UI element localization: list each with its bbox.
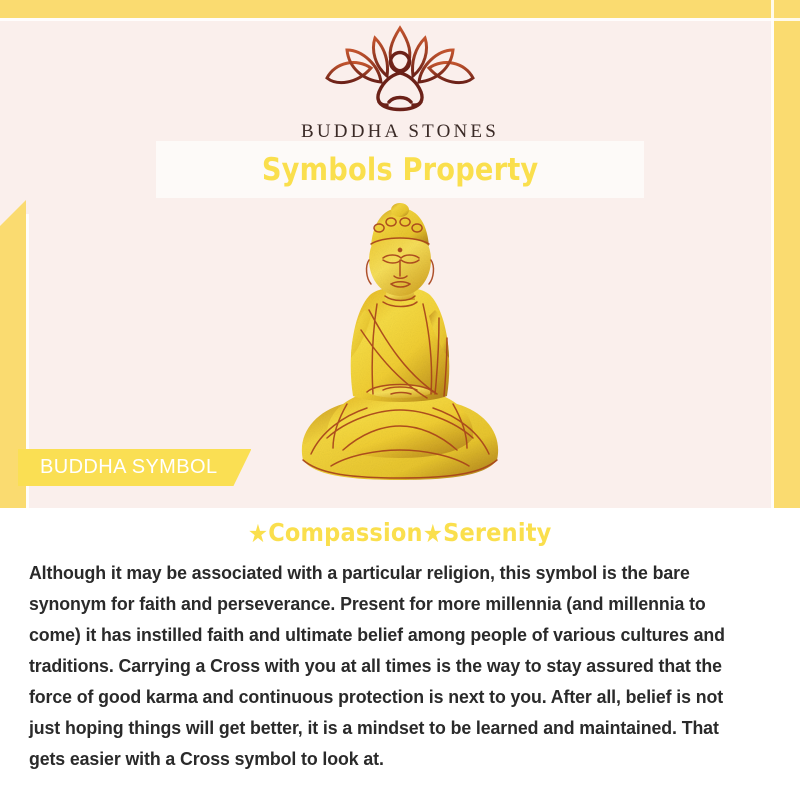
frame-strip-top [0,0,800,18]
section-body-text: Although it may be associated with a par… [0,548,772,774]
section-ribbon-label: BUDDHA SYMBOL [40,456,217,479]
title-band: Symbols Property [156,141,644,198]
subheading-serenity: Serenity [443,518,551,547]
frame-hairline-top [0,18,800,21]
seated-buddha-icon [287,198,513,488]
subheading-compassion: Compassion [269,518,423,547]
content-area: ★Compassion★Serenity Although it may be … [0,508,800,800]
star-icon-left: ★ [248,519,268,548]
lotus-meditation-icon [0,22,800,119]
brand-name: BUDDHA STONES [0,121,800,143]
brand-logo: BUDDHA STONES [0,22,800,143]
section-ribbon: BUDDHA SYMBOL [18,449,251,486]
star-icon-right: ★ [423,519,443,548]
section-subheading: ★Compassion★Serenity [0,508,800,548]
page-title: Symbols Property [262,152,539,188]
infographic-page: BUDDHA STONES Symbols Property [0,0,800,800]
